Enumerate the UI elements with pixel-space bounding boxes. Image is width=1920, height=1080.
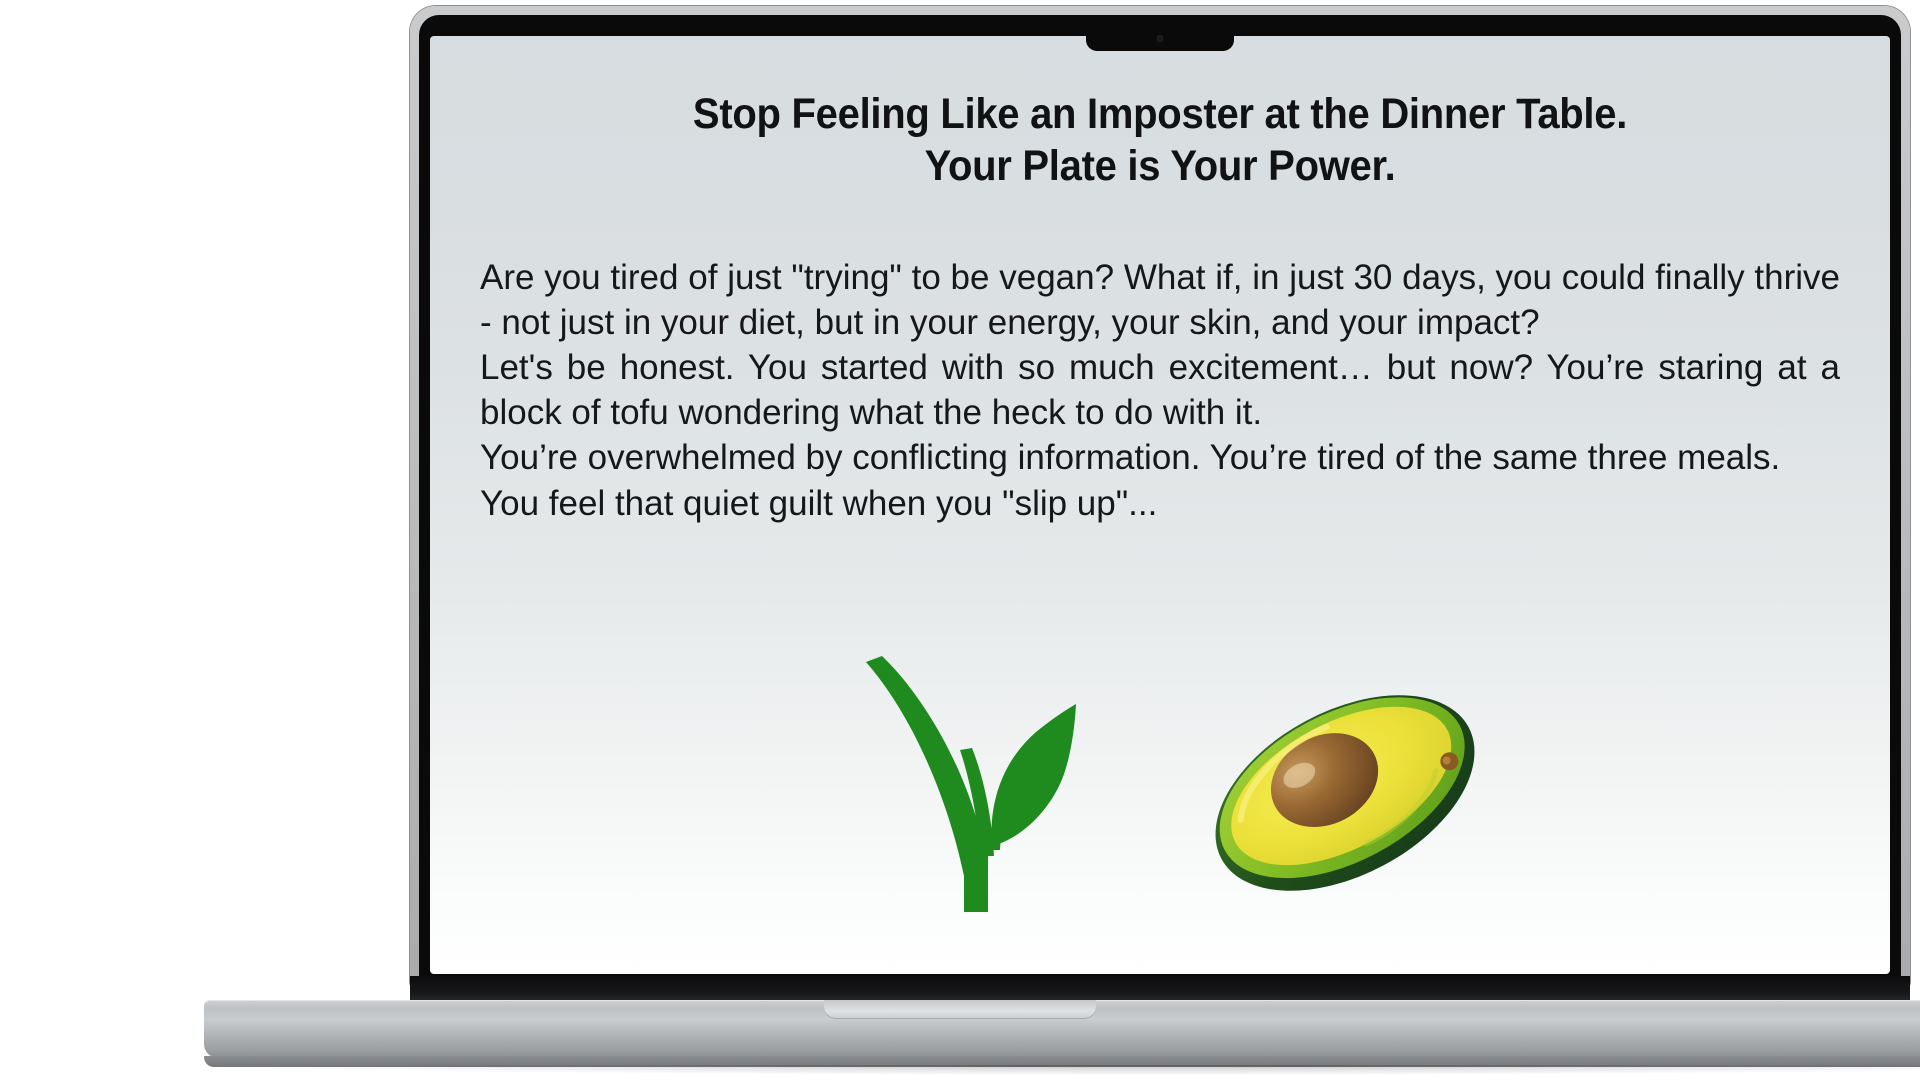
screen-bezel: Stop Feeling Like an Imposter at the Din… <box>419 15 1901 979</box>
screen-notch <box>1086 24 1234 51</box>
artwork-row <box>430 648 1890 938</box>
screen: Stop Feeling Like an Imposter at the Din… <box>430 36 1890 974</box>
slide-content: Stop Feeling Like an Imposter at the Din… <box>430 36 1890 974</box>
vegan-leaf-logo-icon <box>860 650 1080 920</box>
paragraph-3: You’re overwhelmed by conflicting inform… <box>480 435 1840 525</box>
laptop-lid: Stop Feeling Like an Imposter at the Din… <box>410 6 1910 991</box>
body-copy: Are you tired of just "trying" to be veg… <box>456 255 1864 526</box>
page-title: Stop Feeling Like an Imposter at the Din… <box>505 88 1814 193</box>
webcam-icon <box>1157 35 1164 42</box>
headline-line-1: Stop Feeling Like an Imposter at the Din… <box>533 88 1787 140</box>
laptop-shadow <box>218 1065 1920 1075</box>
laptop-mockup: Stop Feeling Like an Imposter at the Din… <box>204 0 1716 1080</box>
avocado-half-icon <box>1200 668 1490 918</box>
paragraph-1: Are you tired of just "trying" to be veg… <box>480 255 1840 345</box>
base-front-notch <box>824 1000 1096 1019</box>
headline-line-2: Your Plate is Your Power. <box>533 140 1787 192</box>
paragraph-2: Let's be honest. You started with so muc… <box>480 345 1840 435</box>
